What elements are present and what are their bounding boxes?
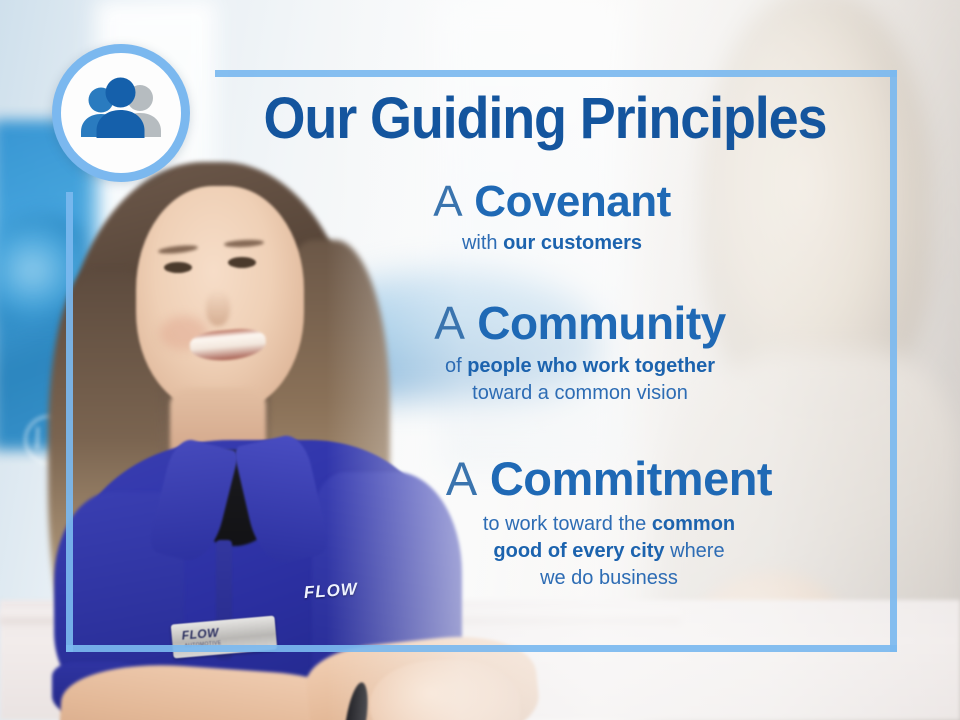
- principle-article: A: [433, 177, 462, 226]
- principles-list: A Covenant with our customers A Communit…: [210, 176, 890, 598]
- principle-commitment: A Commitment to work toward the common g…: [328, 453, 890, 592]
- principle-subtext: of people who work together toward a com…: [270, 353, 890, 407]
- subtext-part-bold: common: [652, 513, 735, 535]
- banner-graphic: FLOW AUTOMOTIVE FLOW Ou: [0, 0, 960, 720]
- principle-word: Covenant: [474, 177, 670, 226]
- principle-community: A Community of people who work together …: [270, 297, 890, 407]
- principle-covenant: A Covenant with our customers: [214, 176, 890, 257]
- subtext-line: we do business: [328, 565, 890, 592]
- principle-heading: A Covenant: [214, 176, 890, 228]
- frame-border-bottom: [66, 645, 897, 652]
- subtext-part: where: [665, 540, 725, 562]
- group-of-people-icon: [52, 44, 190, 182]
- frame-border-right: [890, 70, 897, 652]
- principle-article: A: [446, 452, 477, 505]
- principle-subtext: with our customers: [214, 230, 890, 257]
- subtext-part: to work toward the: [483, 513, 652, 535]
- subtext-part-bold: people who work together: [467, 355, 715, 377]
- principle-article: A: [434, 297, 465, 349]
- principle-heading: A Community: [270, 297, 890, 349]
- page-title: Our Guiding Principles: [238, 88, 852, 150]
- subtext-line: to work toward the common: [328, 511, 890, 538]
- principle-subtext: to work toward the common good of every …: [328, 511, 890, 592]
- subtext-line: of people who work together: [270, 353, 890, 380]
- subtext-part-bold: our customers: [503, 232, 642, 254]
- subtext-line: good of every city where: [328, 538, 890, 565]
- principle-word: Community: [477, 297, 726, 349]
- subtext-line: toward a common vision: [270, 380, 890, 407]
- principle-word: Commitment: [490, 452, 772, 505]
- subtext-part: of: [445, 355, 467, 377]
- subtext-part-bold: good of every city: [493, 540, 664, 562]
- frame-border-top: [215, 70, 897, 77]
- frame-border-left: [66, 192, 73, 652]
- subtext-part: with: [462, 232, 503, 254]
- principle-heading: A Commitment: [328, 453, 890, 505]
